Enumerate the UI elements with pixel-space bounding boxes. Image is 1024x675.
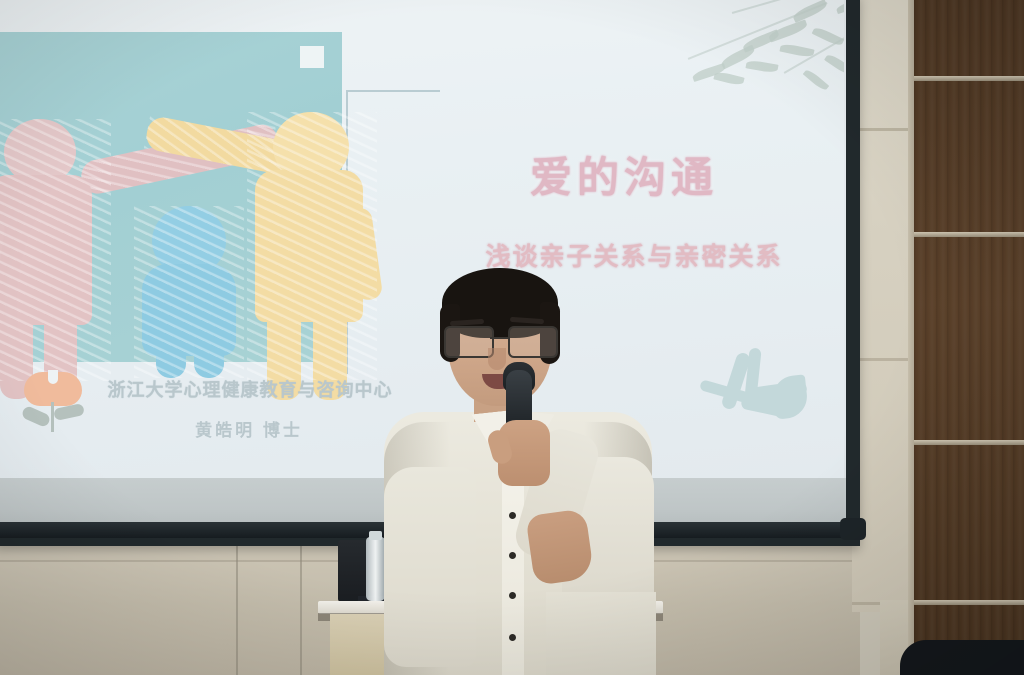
shirt-button — [509, 634, 516, 641]
presenter — [378, 262, 668, 675]
shirt-placket — [502, 458, 524, 675]
screen-pull-knob[interactable] — [840, 518, 866, 540]
shirt-button — [509, 512, 516, 519]
shirt-tail — [546, 592, 656, 675]
slide-square-marker — [300, 46, 324, 68]
slide-figure-adult-right — [247, 112, 377, 380]
wood-seam — [914, 232, 1024, 237]
chair-back-right — [900, 640, 1024, 675]
swallow-bird-icon — [689, 344, 819, 436]
shirt-sleeve-left — [384, 467, 476, 667]
wood-paneling — [914, 0, 1024, 675]
wood-seam — [914, 600, 1024, 605]
cream-panel-seam — [852, 128, 914, 131]
panel-seam-vertical — [300, 536, 302, 675]
willow-branch-icon — [684, 0, 844, 114]
wood-seam — [914, 76, 1024, 81]
slide-title: 爱的沟通 — [449, 144, 799, 205]
slide-speaker: 黄皓明 博士 — [124, 416, 374, 441]
lecture-photo-scene: 爱的沟通 浅谈亲子关系与亲密关系 浙江大学心理健康教育与咨询中心 黄皓明 博士 — [0, 0, 1024, 675]
slide-organization: 浙江大学心理健康教育与咨询中心 — [80, 376, 420, 402]
cream-panel-seam — [852, 358, 914, 361]
shirt-button — [509, 592, 516, 599]
panel-seam-vertical — [236, 536, 238, 675]
presenter-nose — [488, 348, 506, 370]
wood-seam — [914, 440, 1024, 445]
shirt-button — [509, 552, 516, 559]
slide-figure-adult-left — [0, 119, 111, 381]
slide-figure-child — [134, 206, 244, 378]
